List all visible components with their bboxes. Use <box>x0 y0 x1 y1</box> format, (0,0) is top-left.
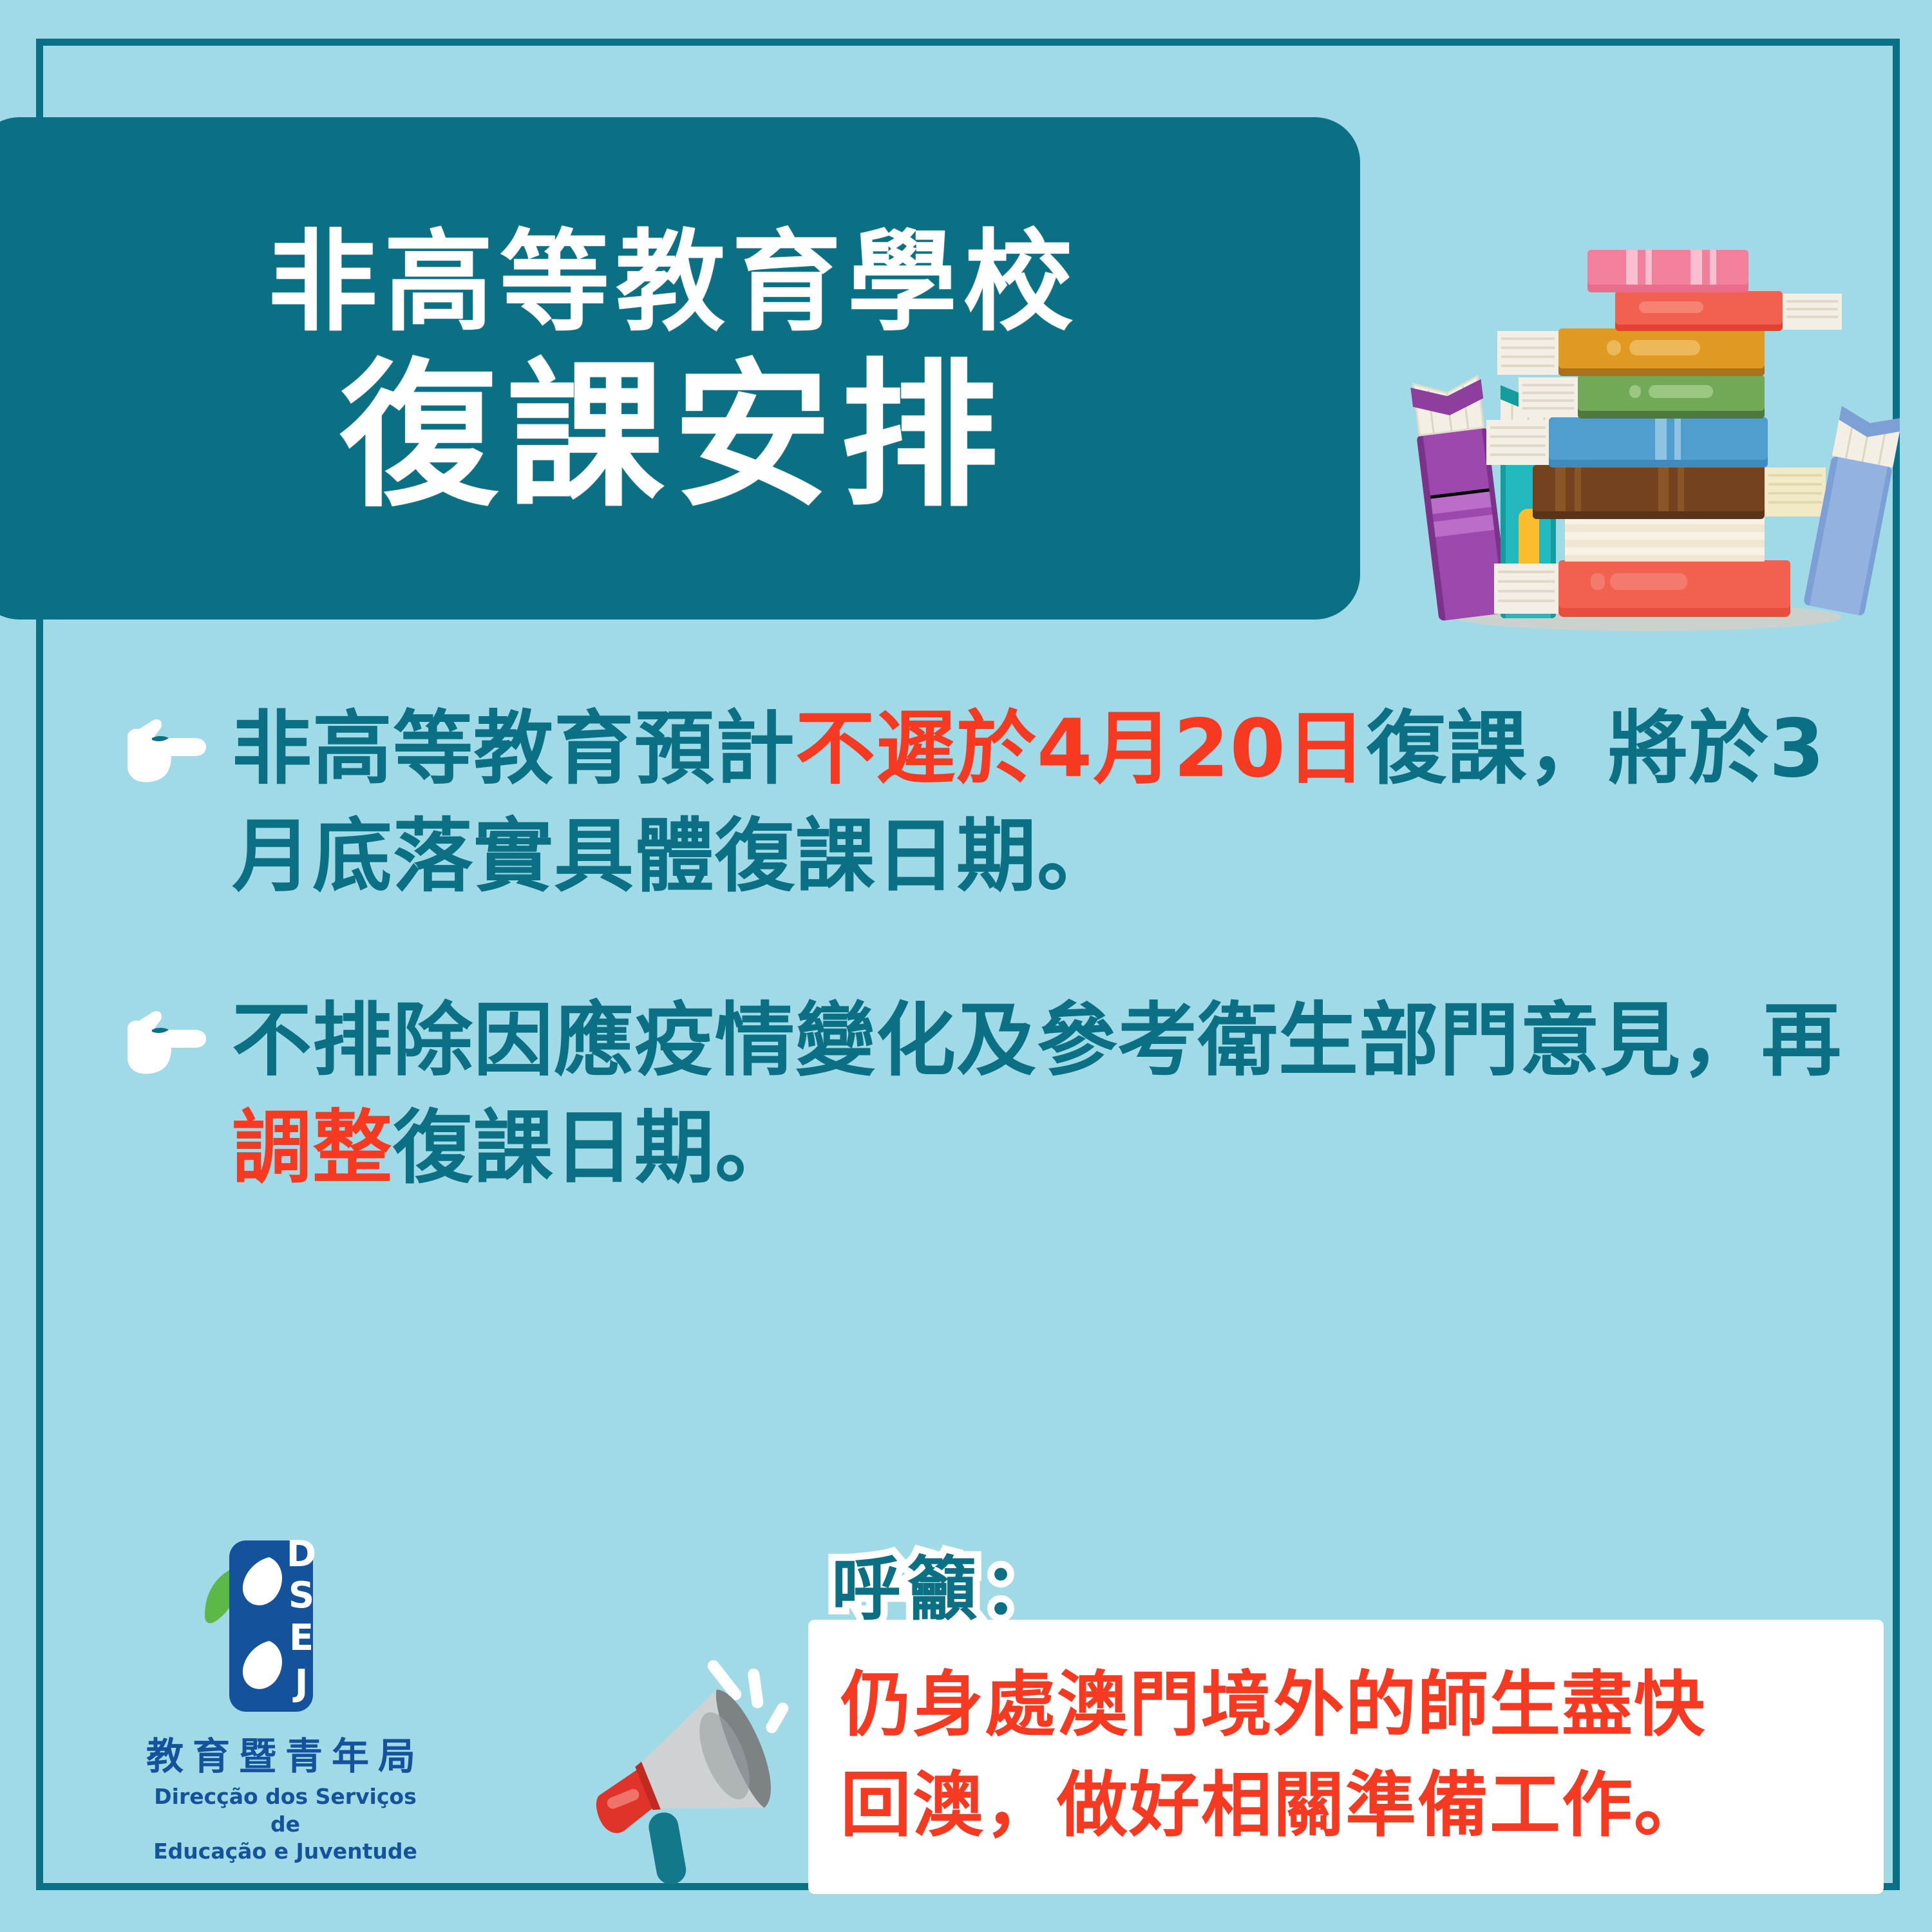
logo-name-pt-line2: Educação e Juventude <box>139 1838 431 1866</box>
bullet-item-1: 非高等教育預計不遲於4月20日復課，將於3月底落實具體復課日期。 <box>109 696 1861 911</box>
logo-name-cn: 教育暨青年局 <box>139 1735 431 1778</box>
bullet-list: 非高等教育預計不遲於4月20日復課，將於3月底落實具體復課日期。 不排除因應疫情… <box>109 696 1861 1279</box>
stack-of-books-icon <box>1372 238 1900 638</box>
logo-name-pt: Direcção dos Serviços de Educação e Juve… <box>139 1783 431 1866</box>
pointing-hand-icon <box>109 987 232 1085</box>
callout-block: 呼籲： 仍身處澳門境外的師生盡快 回澳，做好相關準備工作。 <box>808 1546 1884 1894</box>
logo-name-pt-line1: Direcção dos Serviços de <box>139 1783 431 1839</box>
poster-canvas: 非高等教育學校 復課安排 <box>0 0 1932 1932</box>
svg-text:S: S <box>289 1575 314 1616</box>
bullet-item-2: 不排除因應疫情變化及參考衛生部門意見，再調整復課日期。 <box>109 987 1861 1203</box>
bullet-2-seg-1: 不排除因應疫情變化及參考衛生部門意見，再 <box>232 994 1842 1087</box>
callout-box: 仍身處澳門境外的師生盡快 回澳，做好相關準備工作。 <box>808 1620 1884 1894</box>
bullet-1-seg-1: 非高等教育預計 <box>232 703 795 795</box>
bullet-2-seg-2: 調整 <box>232 1102 393 1195</box>
bullet-2-seg-3: 復課日期。 <box>393 1102 795 1195</box>
svg-text:E: E <box>289 1617 314 1659</box>
svg-text:D: D <box>287 1533 316 1575</box>
dsej-logo-icon: D S E J <box>175 1533 368 1726</box>
megaphone-icon <box>567 1649 837 1906</box>
page-title-line1: 非高等教育學校 <box>268 224 1079 343</box>
bullet-text-1: 非高等教育預計不遲於4月20日復課，將於3月底落實具體復課日期。 <box>232 696 1861 911</box>
dsej-logo: D S E J 教育暨青年局 Direcção dos Serviços de … <box>129 1533 431 1866</box>
callout-label: 呼籲： <box>815 1546 1076 1638</box>
pointing-hand-icon <box>109 696 232 793</box>
svg-text:J: J <box>292 1662 308 1704</box>
callout-line-2: 回澳，做好相關準備工作。 <box>840 1755 1851 1855</box>
callout-line-1: 仍身處澳門境外的師生盡快 <box>840 1654 1851 1755</box>
bullet-1-seg-2: 不遲於4月20日 <box>795 703 1367 795</box>
page-title-line2: 復課安排 <box>340 354 1007 519</box>
title-banner: 非高等教育學校 復課安排 <box>0 117 1360 620</box>
bullet-text-2: 不排除因應疫情變化及參考衛生部門意見，再調整復課日期。 <box>232 987 1861 1203</box>
